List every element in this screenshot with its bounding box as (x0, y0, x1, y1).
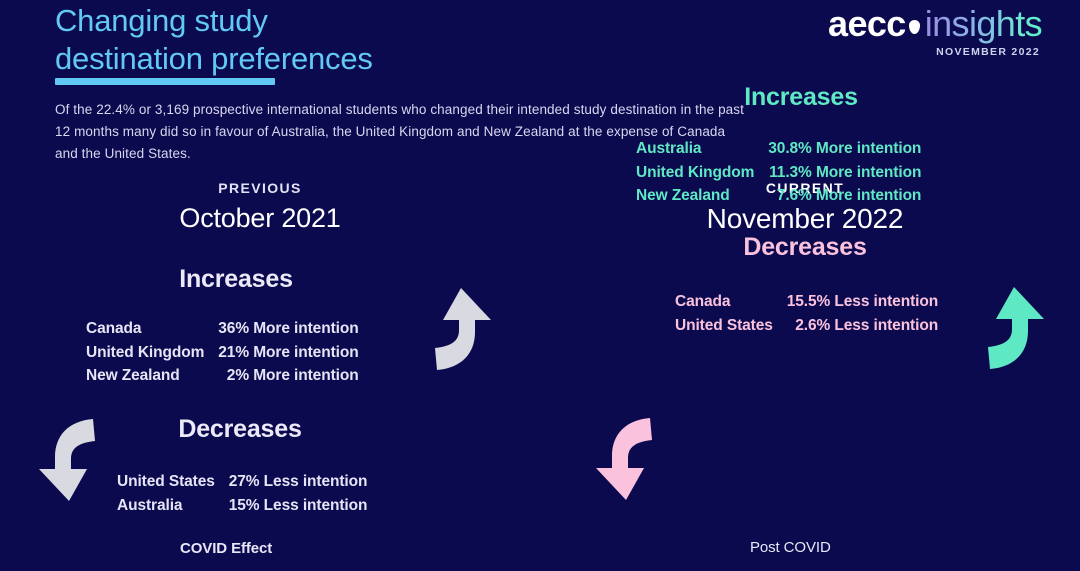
aecc-insights-logo: aecc insights NOVEMBER 2022 (828, 4, 1042, 58)
infographic-canvas: Changing study destination preferences O… (0, 0, 1080, 571)
column-previous: PREVIOUS October 2021 Increases Canada 3… (0, 180, 520, 234)
list-item: Canada 36% More intention (86, 317, 359, 341)
change-value: 15% Less intention (229, 494, 368, 518)
current-decreases-list: Canada 15.5% Less intention United State… (675, 290, 938, 337)
curved-arrow-up-icon (978, 285, 1050, 376)
list-item: United States 27% Less intention (117, 470, 367, 494)
page-title-line-2: destination preferences (55, 40, 675, 78)
country-label: Australia (117, 494, 229, 518)
logo-brand-text: aecc (828, 4, 906, 44)
curved-arrow-down-icon (588, 416, 662, 507)
current-decreases-heading: Decreases (640, 233, 970, 262)
change-value: 21% More intention (218, 341, 358, 365)
previous-decreases-list: United States 27% Less intention Austral… (117, 470, 367, 517)
footer-label-post-covid: Post COVID (750, 539, 831, 556)
current-increases-list: Australia 30.8% More intention United Ki… (636, 137, 921, 208)
list-item: Canada 15.5% Less intention (675, 290, 938, 314)
country-label: United States (675, 314, 787, 338)
list-item: United Kingdom 11.3% More intention (636, 161, 921, 185)
title-underline-rule (55, 78, 275, 85)
country-label: Canada (86, 317, 218, 341)
country-label: United Kingdom (86, 341, 218, 365)
list-item: Australia 30.8% More intention (636, 137, 921, 161)
country-label: Australia (636, 137, 768, 161)
previous-increases-list: Canada 36% More intention United Kingdom… (86, 317, 359, 388)
previous-increases-heading: Increases (86, 265, 386, 294)
column-current-title: November 2022 (545, 203, 1065, 235)
location-pin-dot-icon (909, 20, 920, 34)
change-value: 15.5% Less intention (787, 290, 938, 314)
change-value: 11.3% More intention (768, 161, 921, 185)
country-label: United States (117, 470, 229, 494)
page-title-line-1: Changing study (55, 2, 675, 40)
change-value: 2% More intention (218, 364, 358, 388)
country-label: Canada (675, 290, 787, 314)
logo-date-label: NOVEMBER 2022 (828, 46, 1042, 58)
logo-wordmark: aecc insights (828, 4, 1042, 44)
previous-decreases-heading: Decreases (90, 415, 390, 444)
country-label: New Zealand (86, 364, 218, 388)
curved-arrow-down-icon (31, 417, 105, 508)
change-value: 7.6% More intention (768, 184, 921, 208)
curved-arrow-up-icon (425, 286, 497, 377)
change-value: 27% Less intention (229, 470, 368, 494)
current-increases-heading: Increases (636, 83, 966, 112)
list-item: New Zealand 7.6% More intention (636, 184, 921, 208)
list-item: United States 2.6% Less intention (675, 314, 938, 338)
logo-product-text: insights (925, 4, 1042, 44)
change-value: 36% More intention (218, 317, 358, 341)
column-previous-kicker: PREVIOUS (0, 180, 520, 196)
page-title: Changing study destination preferences (55, 2, 675, 78)
country-label: United Kingdom (636, 161, 768, 185)
list-item: United Kingdom 21% More intention (86, 341, 359, 365)
list-item: New Zealand 2% More intention (86, 364, 359, 388)
country-label: New Zealand (636, 184, 768, 208)
footer-label-covid-effect: COVID Effect (180, 540, 272, 557)
column-previous-title: October 2021 (0, 203, 520, 234)
change-value: 2.6% Less intention (787, 314, 938, 338)
list-item: Australia 15% Less intention (117, 494, 367, 518)
change-value: 30.8% More intention (768, 137, 921, 161)
